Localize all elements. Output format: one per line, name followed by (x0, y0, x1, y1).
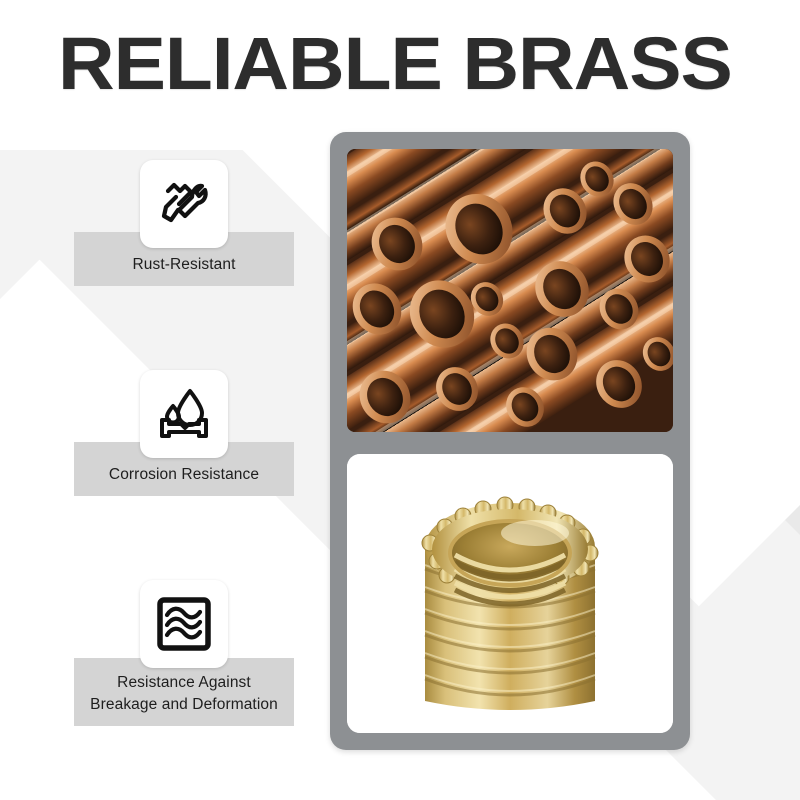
hammer-wrench-icon (140, 160, 228, 248)
feature-label: Resistance Against Breakage and Deformat… (90, 672, 278, 716)
feature-band: Resistance Against Breakage and Deformat… (74, 658, 294, 726)
feature-label: Corrosion Resistance (109, 464, 259, 486)
gallery-frame (330, 132, 690, 750)
feature-label: Rust-Resistant (132, 254, 235, 276)
wavy-lines-square-icon (140, 580, 228, 668)
page-title: RELIABLE BRASS (58, 24, 800, 104)
product-feature-banner: RELIABLE BRASS Rust-Resistant (0, 0, 800, 800)
brass-threaded-insert-photo (347, 454, 673, 733)
copper-brass-tubes-photo (347, 149, 673, 432)
water-drop-pipe-icon (140, 370, 228, 458)
